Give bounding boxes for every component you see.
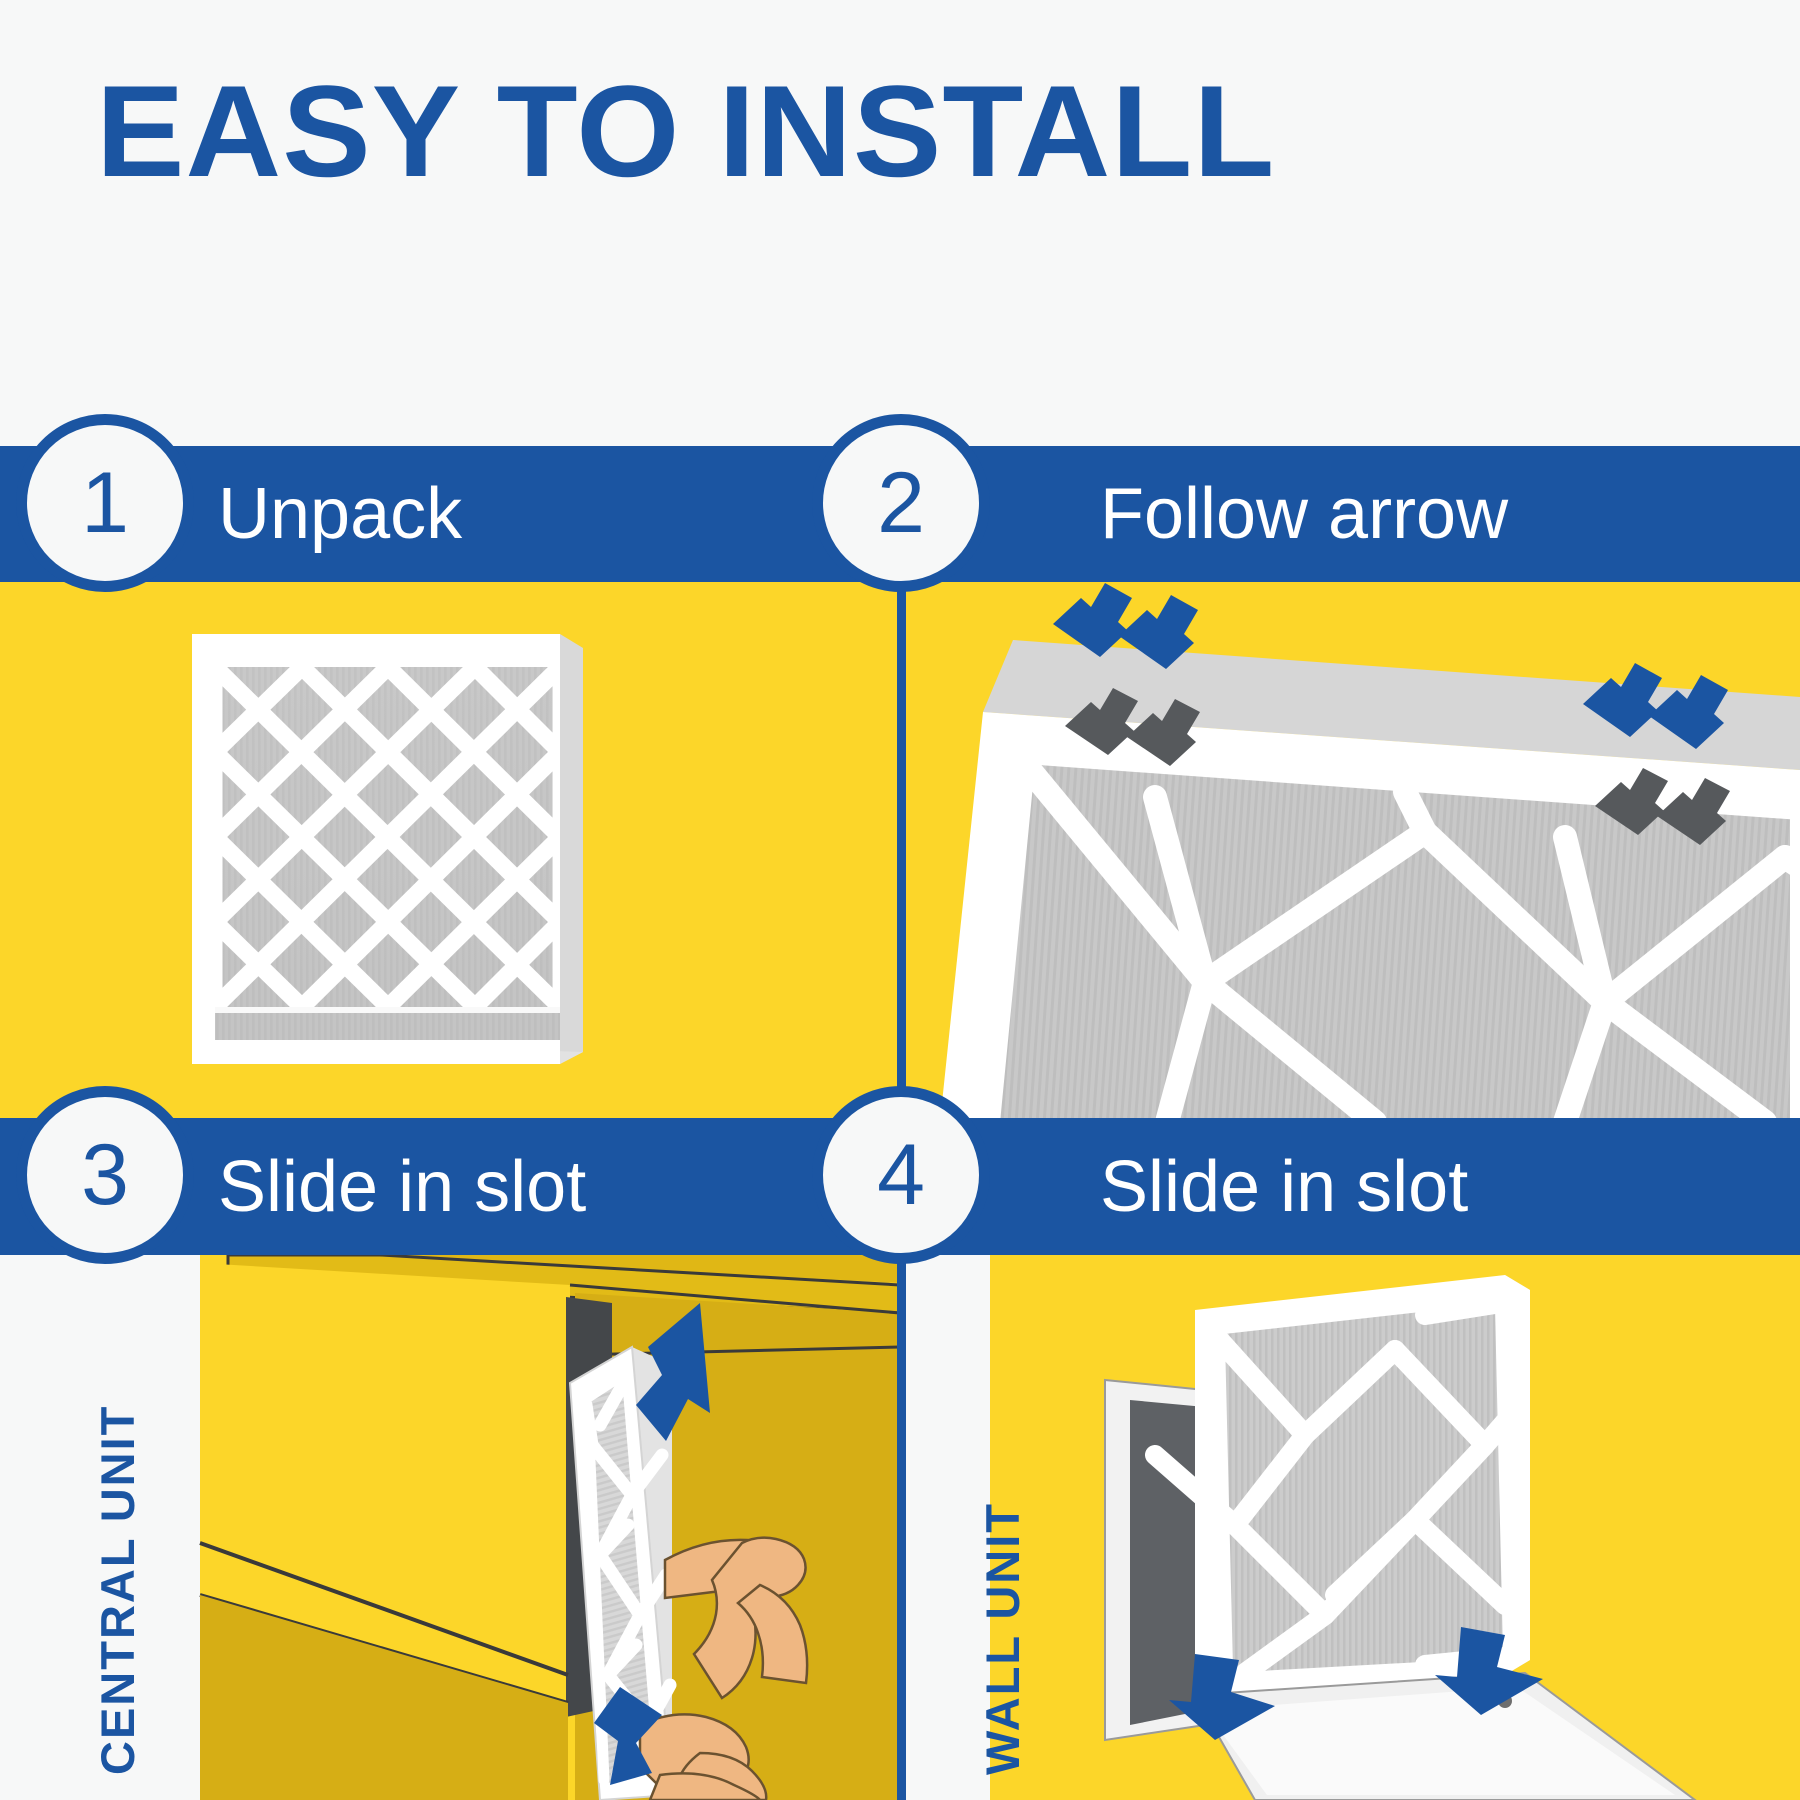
step-3-label: Slide in slot — [218, 1151, 586, 1223]
infographic-root: EASY TO INSTALL — [0, 0, 1800, 1800]
column-divider-bottom — [897, 1255, 906, 1800]
step-2-header: Follow arrow — [905, 446, 1800, 582]
step-4-artwork — [905, 1255, 1800, 1800]
step-2-number: 2 — [877, 460, 925, 546]
step-1-number: 1 — [81, 460, 129, 546]
step-4-header: Slide in slot — [905, 1118, 1800, 1255]
step-1-label: Unpack — [218, 478, 462, 550]
step-3-side-label: CENTRAL UNIT — [90, 1405, 145, 1775]
step-3-number: 3 — [81, 1132, 129, 1218]
step-2-artwork — [905, 582, 1800, 1122]
step-4-number: 4 — [877, 1132, 925, 1218]
step-3-badge: 3 — [16, 1086, 194, 1264]
step-4-label: Slide in slot — [1100, 1151, 1468, 1223]
column-divider-top — [897, 582, 906, 1122]
step-4-badge: 4 — [812, 1086, 990, 1264]
step-1-badge: 1 — [16, 414, 194, 592]
tilted-filter-airflow-illustration — [905, 582, 1800, 1122]
wall-unit-insert-illustration — [905, 1255, 1800, 1800]
step-2-badge: 2 — [812, 414, 990, 592]
step-4-side-label: WALL UNIT — [975, 1502, 1030, 1775]
page-title: EASY TO INSTALL — [96, 66, 1275, 196]
step-1-artwork — [0, 582, 900, 1122]
step-2-label: Follow arrow — [1100, 478, 1508, 550]
flat-air-filter-illustration — [0, 582, 900, 1122]
